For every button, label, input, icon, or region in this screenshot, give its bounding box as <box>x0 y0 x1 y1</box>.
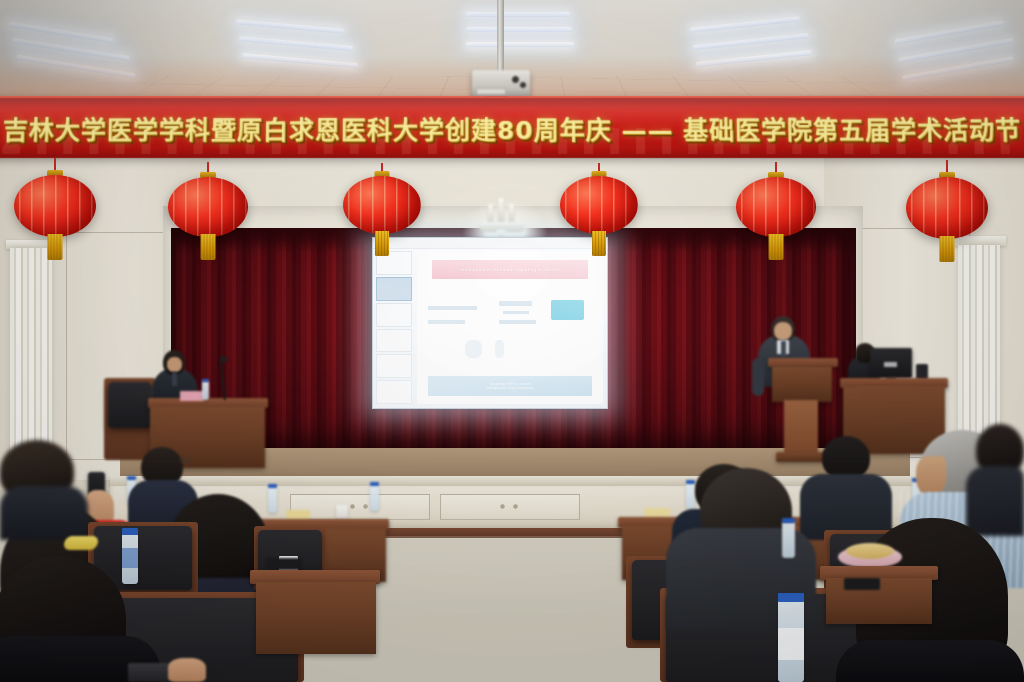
slide-canvas: Endoplasmic reticulum signaling in cance… <box>417 251 603 404</box>
paper-cup-mid-1 <box>336 505 348 519</box>
lantern-body <box>906 177 988 239</box>
lantern-body <box>168 177 248 237</box>
slide-text-block <box>503 311 529 315</box>
bottle-cap <box>268 484 277 488</box>
water-bottle-mid-2 <box>268 487 277 513</box>
slide-title-text: Endoplasmic reticulum signaling in cance… <box>461 267 559 272</box>
lantern-body <box>560 176 638 234</box>
ornament-fin <box>488 204 493 224</box>
speaker-arm <box>752 358 764 396</box>
slide-thumbnail[interactable] <box>376 303 412 327</box>
water-bottle-head-table <box>202 381 209 400</box>
slide-figure <box>465 340 482 358</box>
slide-thumbnail-panel[interactable] <box>376 251 412 405</box>
slide-text-block <box>499 320 536 324</box>
light-tube <box>466 27 572 32</box>
smartphone-on-desk-right <box>844 578 880 590</box>
projector-knob <box>512 76 519 83</box>
bottle-cap <box>370 482 379 486</box>
bottle-cap <box>127 476 136 480</box>
snack-pastries <box>846 543 894 559</box>
light-tube <box>239 36 353 51</box>
ceiling-light-cluster-3 <box>466 10 616 56</box>
ornament-fin <box>509 204 514 224</box>
lantern-body <box>14 175 96 237</box>
monitor-logo <box>884 362 897 367</box>
bottle-cap <box>202 379 209 382</box>
conference-hall-photo: Endoplasmic reticulum signaling in cance… <box>0 0 1024 682</box>
ornament-fin <box>498 198 504 224</box>
moderator-necktie <box>172 372 177 386</box>
water-bottle-mid-4 <box>686 483 695 509</box>
speaker-face <box>774 322 792 340</box>
hand-foreground-left <box>168 658 206 682</box>
lantern-tassel <box>201 234 216 260</box>
light-tube <box>236 19 344 33</box>
audience-face-silver-hair <box>916 456 946 496</box>
slide-footer-line-2: therapy and drug resistance <box>486 386 533 390</box>
water-bottle-right-mid <box>782 522 795 558</box>
red-lantern-1 <box>14 158 96 268</box>
bottle-label <box>122 548 138 568</box>
red-lantern-2 <box>168 162 248 270</box>
light-tube <box>690 16 800 32</box>
podium-body <box>772 366 832 402</box>
bottle-label <box>778 628 804 660</box>
light-tube <box>693 33 809 50</box>
lantern-body <box>736 177 816 237</box>
water-bottle-mid-3 <box>370 485 379 511</box>
audience-body-far-right <box>966 466 1024 536</box>
speaker-necktie <box>781 341 786 357</box>
slide-thumbnail-selected[interactable] <box>376 277 412 301</box>
projector-vent <box>476 88 506 95</box>
head-table-placard <box>180 391 204 401</box>
slide-figure <box>495 340 504 358</box>
slide-thumbnail[interactable] <box>376 329 412 353</box>
lantern-tassel <box>375 231 389 256</box>
banner-text: 吉林大学医学学科暨原白求恩医科大学创建80周年庆 —— 基础医学院第五届学术活动… <box>2 111 1021 147</box>
lantern-tassel <box>48 234 63 260</box>
slide-thumbnail[interactable] <box>376 354 412 378</box>
snack-banana <box>64 536 98 550</box>
audience-desk-left-fg-front <box>256 582 376 654</box>
slide-diagram-shape <box>551 300 584 320</box>
slide-text-block <box>499 301 532 306</box>
moderator-empty-chair <box>108 382 152 428</box>
bottle-cap <box>686 480 695 484</box>
fluted-column-left <box>10 248 52 460</box>
ornament-base <box>480 222 524 231</box>
slide-text-block <box>428 306 476 310</box>
red-lantern-5 <box>736 162 816 270</box>
podium-base <box>776 452 828 462</box>
apron-scroll-ornament <box>346 502 372 511</box>
slide-text-block <box>428 320 465 324</box>
projector-knob <box>520 82 526 88</box>
audience-body-long-hair-right <box>836 640 1024 682</box>
projector-mount-pole <box>497 0 504 74</box>
banner-container: 吉林大学医学学科暨原白求恩医科大学创建80周年庆 —— 基础医学院第五届学术活动… <box>0 96 1024 158</box>
bottle-cap <box>778 593 804 602</box>
audience-shoulder-back-left <box>0 486 88 540</box>
moderator-face <box>167 357 182 372</box>
lantern-tassel <box>592 231 606 256</box>
event-banner: 吉林大学医学学科暨原白求恩医科大学创建80周年庆 —— 基础医学院第五届学术活动… <box>0 96 1024 158</box>
microphone-head-icon <box>220 356 227 363</box>
bottle-cap <box>782 518 795 523</box>
lantern-tassel <box>940 236 955 262</box>
red-lantern-3 <box>343 163 421 269</box>
light-tube <box>466 12 570 17</box>
lantern-tassel <box>769 234 784 260</box>
slide-footer-bar: Targeting UPR in cancer therapy and drug… <box>428 376 592 396</box>
audience-glasses-icon <box>180 458 190 463</box>
red-lantern-6 <box>906 160 988 270</box>
bottle-cap <box>122 528 138 535</box>
apron-scroll-ornament <box>496 502 522 511</box>
smartphone-on-desk-left <box>266 558 302 570</box>
lantern-body <box>343 176 421 234</box>
slide-thumbnail[interactable] <box>376 380 412 404</box>
podium-column <box>784 400 818 456</box>
red-lantern-4 <box>560 163 638 269</box>
light-tube <box>466 42 574 47</box>
